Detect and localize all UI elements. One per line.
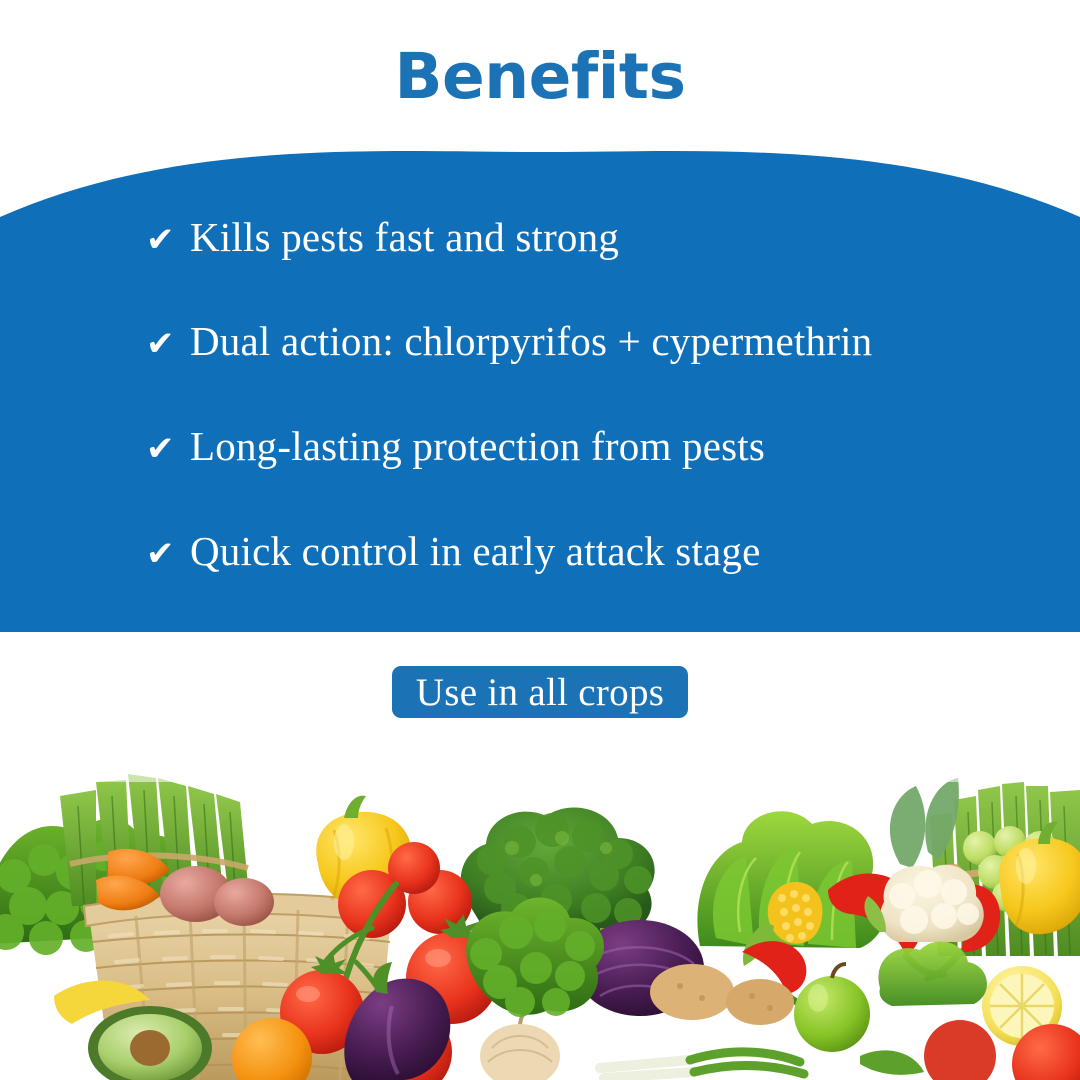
check-icon: ✔ (146, 327, 190, 361)
benefit-text: Dual action: chlorpyrifos + cypermethrin (190, 319, 872, 364)
benefit-text: Quick control in early attack stage (190, 529, 761, 574)
benefits-list: ✔ Kills pests fast and strong ✔ Dual act… (0, 140, 1080, 632)
produce-photo-artwork (0, 756, 1080, 1080)
benefit-text: Long-lasting protection from pests (190, 424, 765, 469)
list-item: ✔ Long-lasting protection from pests (146, 424, 765, 469)
produce-photo (0, 756, 1080, 1080)
list-item: ✔ Dual action: chlorpyrifos + cypermethr… (146, 319, 872, 364)
page-title: Benefits (0, 44, 1080, 110)
benefits-poster: Benefits ✔ Kills pests fast and strong ✔… (0, 0, 1080, 1080)
check-icon: ✔ (146, 223, 190, 257)
use-in-all-crops-badge: Use in all crops (392, 666, 688, 718)
benefit-text: Kills pests fast and strong (190, 215, 619, 260)
check-icon: ✔ (146, 432, 190, 466)
list-item: ✔ Kills pests fast and strong (146, 215, 619, 260)
list-item: ✔ Quick control in early attack stage (146, 529, 761, 574)
check-icon: ✔ (146, 537, 190, 571)
badge-label: Use in all crops (416, 673, 665, 712)
